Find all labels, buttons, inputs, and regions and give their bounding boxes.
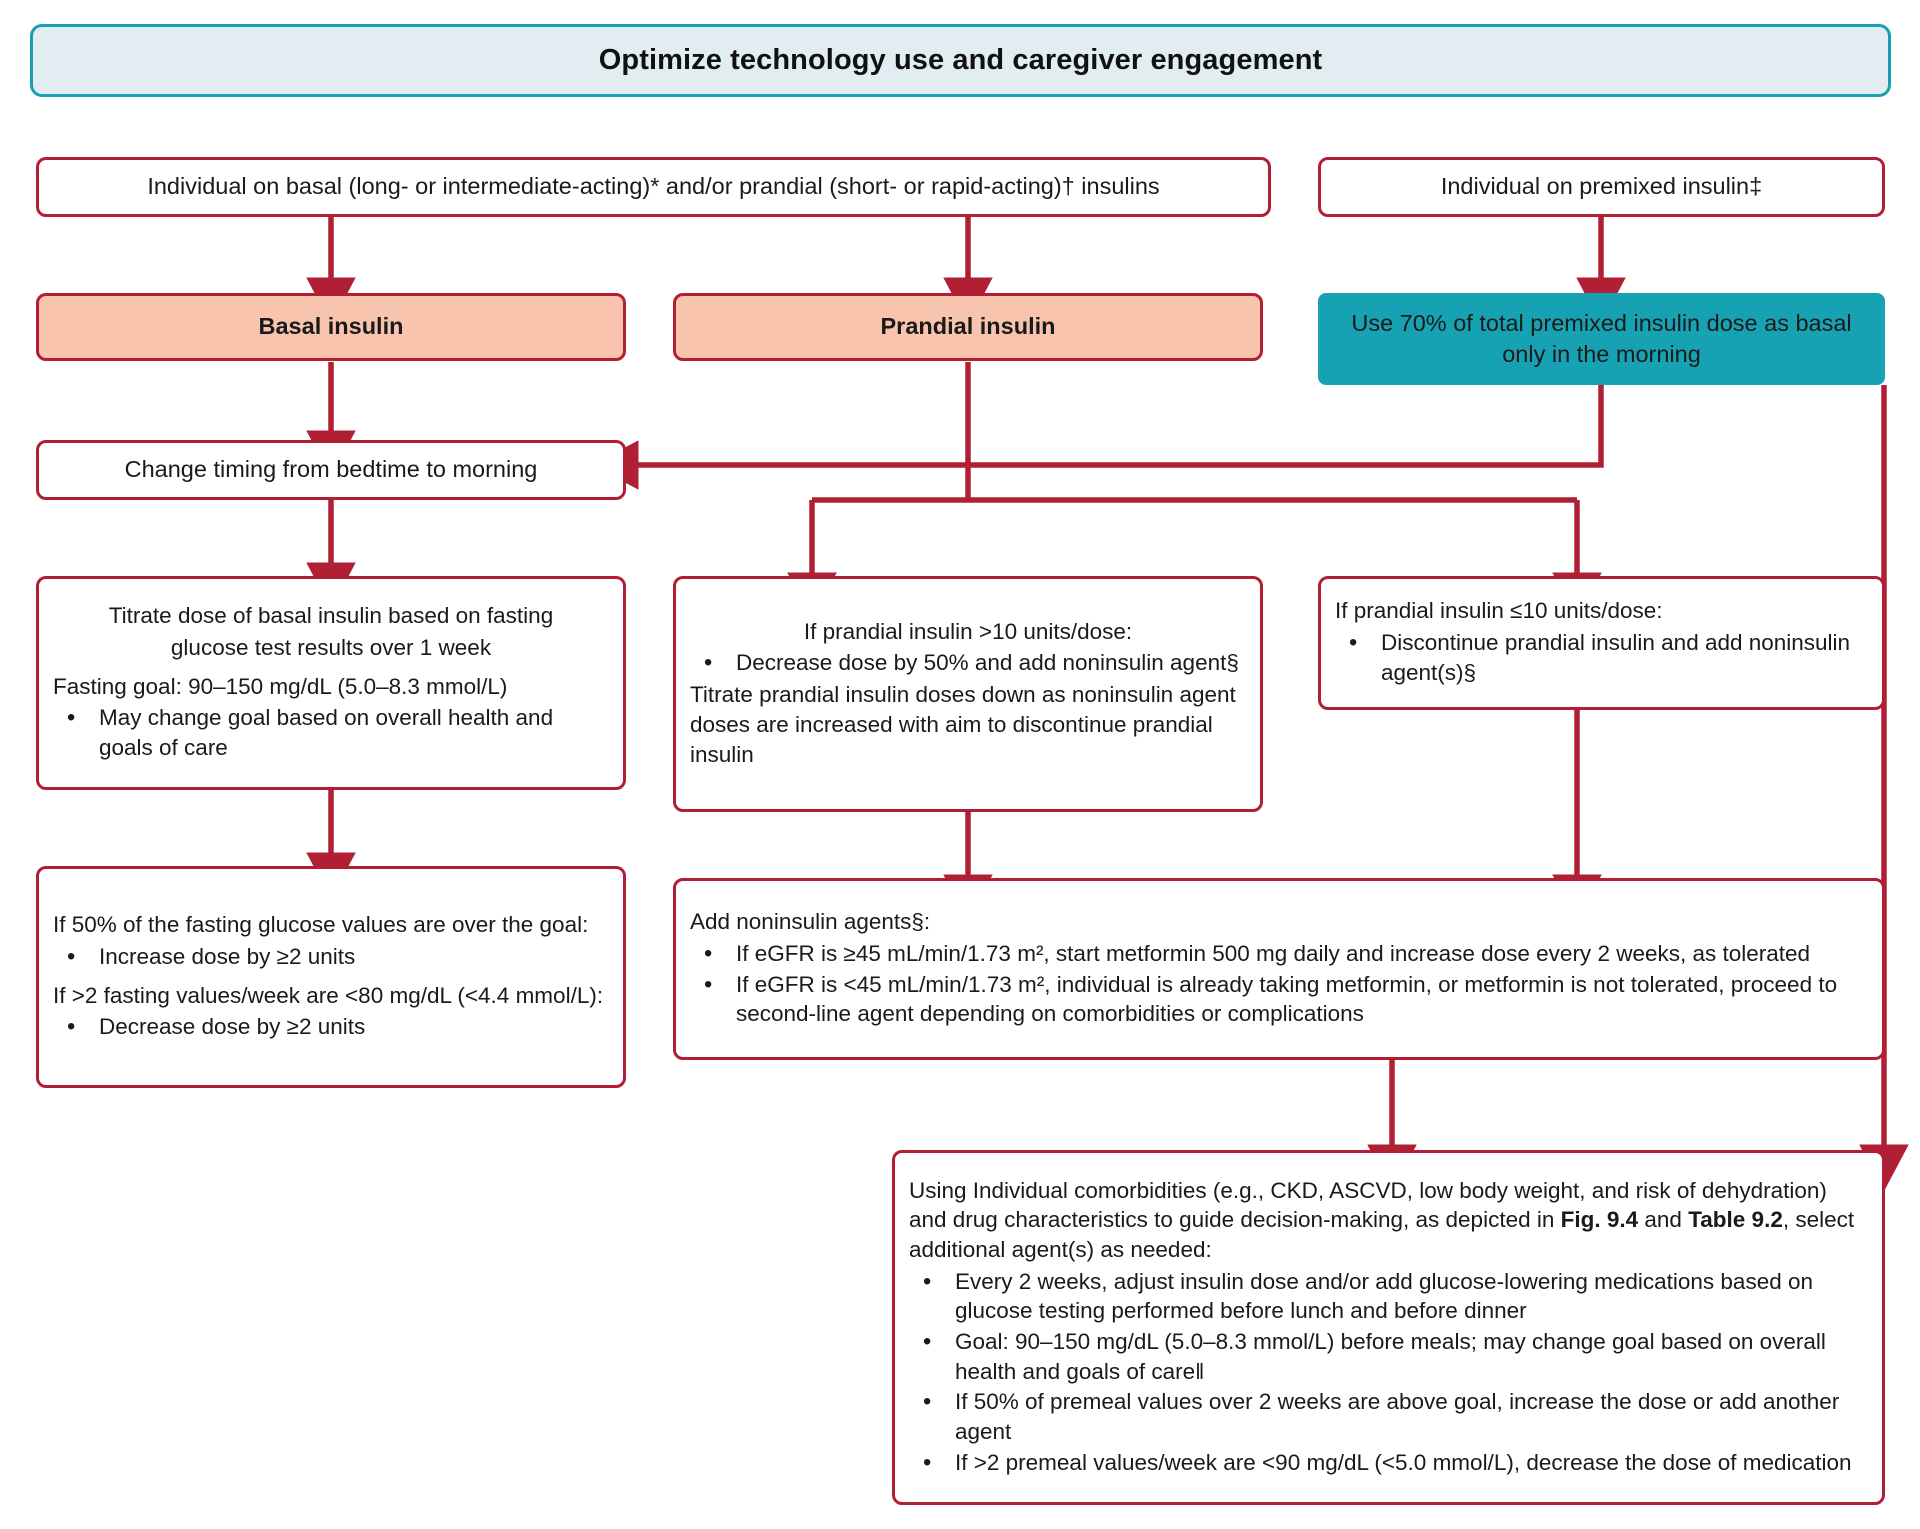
node-comorbidities-guidance[interactable]: Using Individual comorbidities (e.g., CK…: [892, 1150, 1885, 1505]
fasting-adjust-head-2: If >2 fasting values/week are <80 mg/dL …: [53, 981, 609, 1011]
list-item: May change goal based on overall health …: [99, 703, 609, 762]
change-timing-text: Change timing from bedtime to morning: [39, 444, 623, 495]
node-basal-insulin[interactable]: Basal insulin: [36, 293, 626, 361]
flowchart-canvas: Optimize technology use and caregiver en…: [0, 0, 1920, 1529]
fasting-adjust-bullets-1: Increase dose by ≥2 units: [53, 942, 609, 972]
list-item: If >2 premeal values/week are <90 mg/dL …: [955, 1448, 1868, 1478]
node-premixed-action[interactable]: Use 70% of total premixed insulin dose a…: [1318, 293, 1885, 385]
banner-optimize-technology: Optimize technology use and caregiver en…: [30, 24, 1891, 97]
node-fasting-adjust[interactable]: If 50% of the fasting glucose values are…: [36, 866, 626, 1088]
prandial-insulin-label: Prandial insulin: [676, 301, 1260, 352]
list-item: Every 2 weeks, adjust insulin dose and/o…: [955, 1267, 1868, 1326]
prandial-over10-tail: Titrate prandial insulin doses down as n…: [690, 680, 1246, 769]
prandial-under10-head: If prandial insulin ≤10 units/dose:: [1335, 596, 1868, 626]
node-change-timing[interactable]: Change timing from bedtime to morning: [36, 440, 626, 500]
entry-premixed-text: Individual on premixed insulin‡: [1321, 161, 1882, 212]
node-entry-basal-prandial[interactable]: Individual on basal (long- or intermedia…: [36, 157, 1271, 217]
prandial-over10-bullet-list: Decrease dose by 50% and add noninsulin …: [690, 648, 1246, 678]
entry-basal-prandial-text: Individual on basal (long- or intermedia…: [39, 161, 1268, 212]
list-item: Goal: 90–150 mg/dL (5.0–8.3 mmol/L) befo…: [955, 1327, 1868, 1386]
list-item: If 50% of premeal values over 2 weeks ar…: [955, 1387, 1868, 1446]
add-noninsulin-bullet-list: If eGFR is ≥45 mL/min/1.73 m², start met…: [690, 939, 1868, 1029]
node-titrate-basal[interactable]: Titrate dose of basal insulin based on f…: [36, 576, 626, 790]
node-add-noninsulin-agents[interactable]: Add noninsulin agents§: If eGFR is ≥45 m…: [673, 878, 1885, 1060]
premixed-action-text: Use 70% of total premixed insulin dose a…: [1318, 300, 1885, 379]
add-noninsulin-head: Add noninsulin agents§:: [690, 907, 1868, 937]
prandial-over10-head: If prandial insulin >10 units/dose:: [690, 617, 1246, 647]
comorbidities-bullet-list: Every 2 weeks, adjust insulin dose and/o…: [909, 1267, 1868, 1478]
banner-title: Optimize technology use and caregiver en…: [599, 44, 1323, 77]
list-item: If eGFR is ≥45 mL/min/1.73 m², start met…: [736, 939, 1868, 969]
list-item: If eGFR is <45 mL/min/1.73 m², individua…: [736, 970, 1868, 1029]
comorbidities-fig-ref: Fig. 9.4: [1561, 1207, 1639, 1232]
titrate-line2: glucose test results over 1 week: [53, 633, 609, 663]
list-item: Increase dose by ≥2 units: [99, 942, 609, 972]
node-prandial-under-10[interactable]: If prandial insulin ≤10 units/dose: Disc…: [1318, 576, 1885, 710]
node-prandial-over-10[interactable]: If prandial insulin >10 units/dose: Decr…: [673, 576, 1263, 812]
comorbidities-intro: Using Individual comorbidities (e.g., CK…: [909, 1176, 1868, 1265]
titrate-bullet-list: May change goal based on overall health …: [53, 703, 609, 762]
fasting-adjust-head-1: If 50% of the fasting glucose values are…: [53, 910, 609, 940]
node-entry-premixed[interactable]: Individual on premixed insulin‡: [1318, 157, 1885, 217]
comorbidities-intro-mid: and: [1638, 1207, 1688, 1232]
fasting-adjust-bullets-2: Decrease dose by ≥2 units: [53, 1012, 609, 1042]
titrate-line1: Titrate dose of basal insulin based on f…: [53, 601, 609, 631]
comorbidities-table-ref: Table 9.2: [1688, 1207, 1783, 1232]
list-item: Decrease dose by 50% and add noninsulin …: [736, 648, 1246, 678]
list-item: Decrease dose by ≥2 units: [99, 1012, 609, 1042]
node-prandial-insulin[interactable]: Prandial insulin: [673, 293, 1263, 361]
basal-insulin-label: Basal insulin: [39, 301, 623, 352]
list-item: Discontinue prandial insulin and add non…: [1381, 628, 1868, 687]
titrate-fasting-goal: Fasting goal: 90–150 mg/dL (5.0–8.3 mmol…: [53, 672, 609, 702]
prandial-under10-bullet-list: Discontinue prandial insulin and add non…: [1335, 628, 1868, 687]
